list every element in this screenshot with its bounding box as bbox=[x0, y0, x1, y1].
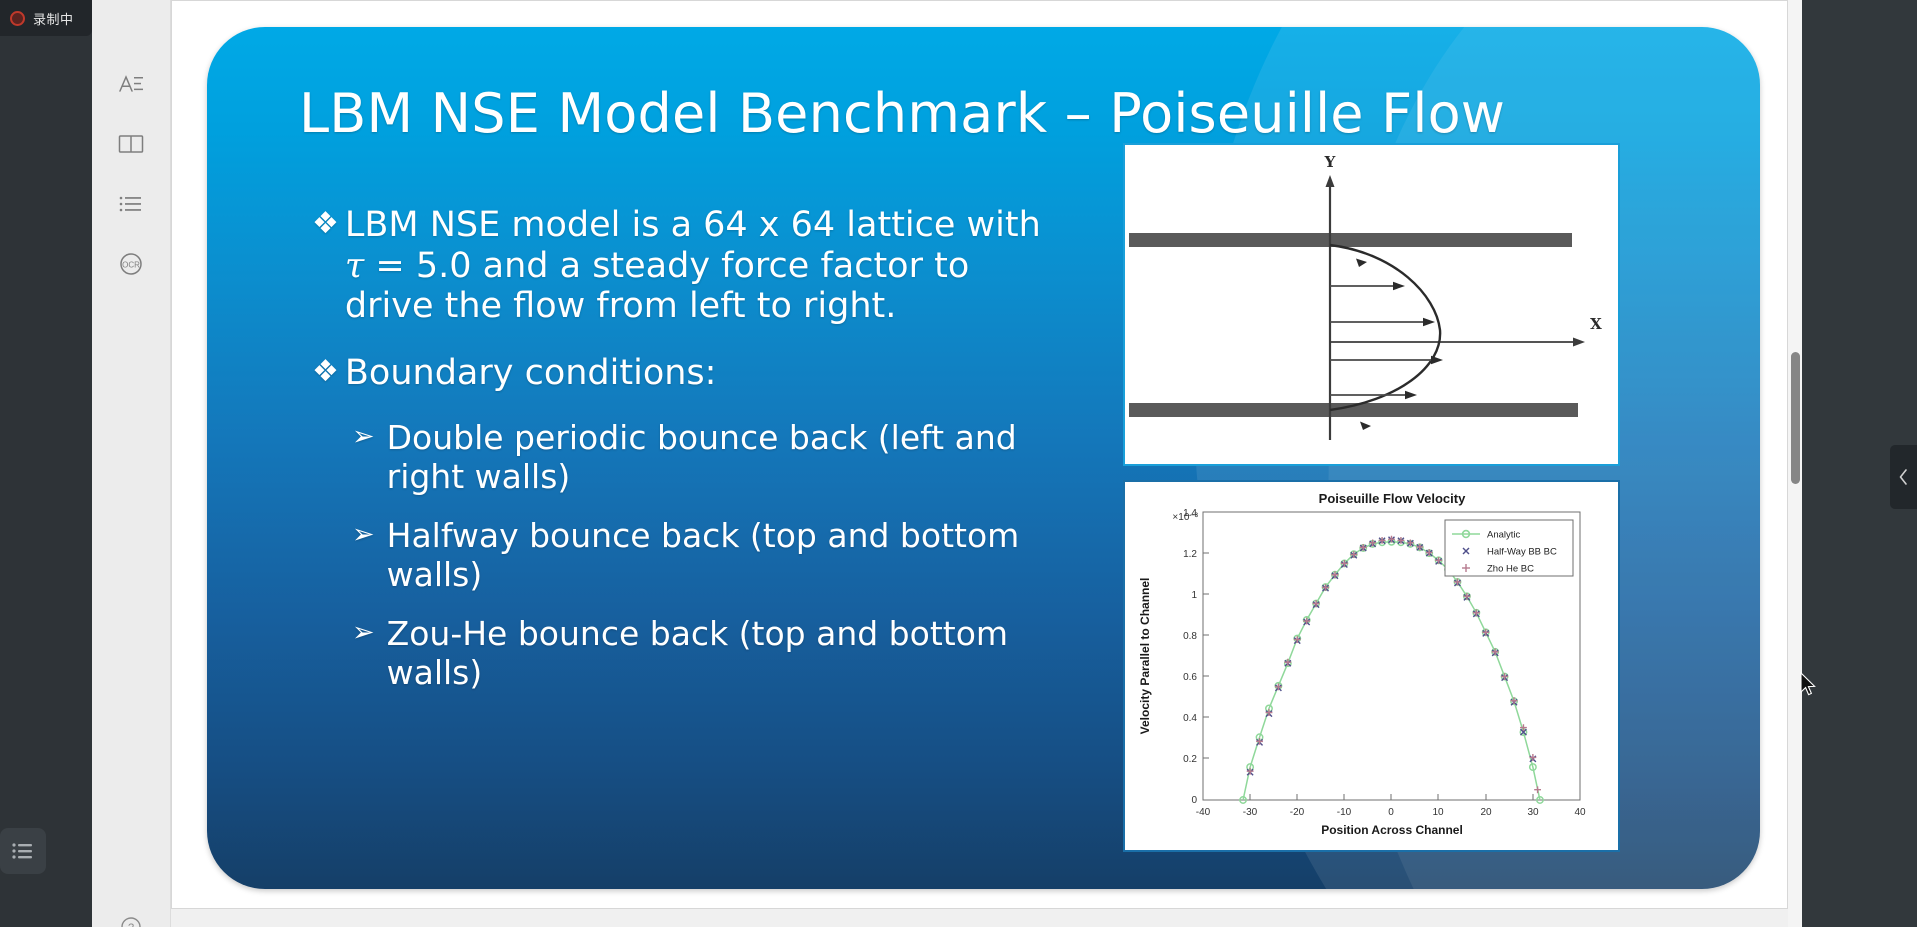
x-tick-label: -20 bbox=[1290, 807, 1305, 818]
vertical-scrollbar[interactable] bbox=[1788, 0, 1802, 927]
slide-canvas: LBM NSE Model Benchmark – Poiseuille Flo… bbox=[207, 27, 1760, 889]
slide-title: LBM NSE Model Benchmark – Poiseuille Flo… bbox=[299, 82, 1599, 145]
y-tick-label: 0.4 bbox=[1183, 713, 1197, 724]
x-tick-label: 30 bbox=[1527, 807, 1539, 818]
bullet-text: Halfway bounce back (top and bottom wall… bbox=[387, 517, 1042, 595]
legend-label: Zho He BC bbox=[1487, 564, 1534, 575]
outline-list-icon bbox=[118, 193, 144, 215]
y-tick-label: 0.2 bbox=[1183, 754, 1197, 765]
legend-label: Analytic bbox=[1487, 530, 1521, 541]
sidebar-item-text-format[interactable] bbox=[109, 62, 153, 106]
book-spread-icon bbox=[118, 133, 144, 155]
app-root: 录制中 bbox=[0, 0, 1917, 927]
text-format-icon bbox=[118, 73, 144, 95]
bullet-marker-arrow-icon: ➢ bbox=[352, 615, 375, 650]
slide-body: ❖ LBM NSE model is a 64 x 64 lattice wit… bbox=[312, 205, 1042, 713]
y-tick-label: 1.4 bbox=[1183, 508, 1197, 519]
poiseuille-channel-diagram: Y X bbox=[1123, 143, 1620, 466]
bullet-level1: ❖ Boundary conditions: bbox=[312, 353, 1042, 394]
sidebar-item-outline[interactable] bbox=[109, 182, 153, 226]
panel-collapse-button[interactable] bbox=[1890, 445, 1917, 509]
y-tick-label: 1 bbox=[1191, 590, 1197, 601]
y-tick-label: 1.2 bbox=[1183, 549, 1197, 560]
record-dot-icon bbox=[10, 11, 25, 26]
y-tick-label: 0.6 bbox=[1183, 672, 1197, 683]
sidebar-item-page-layout[interactable] bbox=[109, 122, 153, 166]
bullet-marker-diamond-icon: ❖ bbox=[312, 205, 339, 243]
bullet-text: LBM NSE model is a 64 x 64 lattice with … bbox=[345, 205, 1042, 327]
svg-text:?: ? bbox=[128, 922, 134, 927]
list-menu-icon bbox=[12, 842, 34, 860]
x-tick-label: 20 bbox=[1480, 807, 1492, 818]
bullet-text: Zou-He bounce back (top and bottom walls… bbox=[387, 615, 1042, 693]
bullet-level2: ➢ Double periodic bounce back (left and … bbox=[352, 419, 1042, 497]
slide-page: LBM NSE Model Benchmark – Poiseuille Flo… bbox=[171, 0, 1788, 909]
help-button[interactable]: ? bbox=[109, 905, 153, 927]
bullet-marker-diamond-icon: ❖ bbox=[312, 353, 339, 391]
ocr-icon: OCR bbox=[118, 251, 144, 277]
scrollbar-thumb[interactable] bbox=[1791, 352, 1800, 484]
bullet-level1: ❖ LBM NSE model is a 64 x 64 lattice wit… bbox=[312, 205, 1042, 327]
axis-label-x: X bbox=[1590, 315, 1602, 333]
y-tick-label: 0 bbox=[1191, 795, 1197, 806]
svg-text:OCR: OCR bbox=[122, 260, 140, 269]
tau-symbol: τ bbox=[345, 246, 364, 286]
chart-title: Poiseuille Flow Velocity bbox=[1319, 491, 1466, 506]
channel-diagram-svg: Y X bbox=[1125, 145, 1618, 464]
help-circle-icon: ? bbox=[120, 916, 142, 927]
x-tick-label: 0 bbox=[1388, 807, 1394, 818]
axis-label-y: Y bbox=[1324, 153, 1336, 171]
tool-sidebar: OCR ? bbox=[92, 0, 171, 927]
bullet-text-part2: = 5.0 and a steady force factor to drive… bbox=[345, 246, 969, 327]
recording-label: 录制中 bbox=[33, 9, 74, 28]
x-tick-label: -10 bbox=[1337, 807, 1352, 818]
bullet-level2: ➢ Zou-He bounce back (top and bottom wal… bbox=[352, 615, 1042, 693]
x-tick-label: -40 bbox=[1196, 807, 1211, 818]
poiseuille-velocity-chart: Poiseuille Flow Velocity ×10⁻³ 1.4 1.2 1… bbox=[1123, 480, 1620, 852]
chart-ylabel: Velocity Parallel to Channel bbox=[1138, 578, 1152, 735]
recording-status: 录制中 bbox=[0, 0, 92, 36]
y-tick-label: 0.8 bbox=[1183, 631, 1197, 642]
sidebar-item-ocr[interactable]: OCR bbox=[109, 242, 153, 286]
legend-label: Half-Way BB BC bbox=[1487, 547, 1557, 558]
bullet-level2: ➢ Halfway bounce back (top and bottom wa… bbox=[352, 517, 1042, 595]
x-tick-label: 10 bbox=[1432, 807, 1444, 818]
rail-menu-button[interactable] bbox=[0, 828, 46, 874]
bullet-text: Boundary conditions: bbox=[345, 353, 717, 394]
x-tick-label: 40 bbox=[1574, 807, 1586, 818]
bullet-marker-arrow-icon: ➢ bbox=[352, 419, 375, 454]
bullet-text-part1: LBM NSE model is a 64 x 64 lattice with bbox=[345, 205, 1041, 245]
velocity-chart-svg: Poiseuille Flow Velocity ×10⁻³ 1.4 1.2 1… bbox=[1125, 482, 1618, 850]
bullet-marker-arrow-icon: ➢ bbox=[352, 517, 375, 552]
document-viewport[interactable]: LBM NSE Model Benchmark – Poiseuille Flo… bbox=[171, 0, 1788, 927]
x-tick-label: -30 bbox=[1243, 807, 1258, 818]
left-rail: 录制中 bbox=[0, 0, 92, 927]
chart-xlabel: Position Across Channel bbox=[1321, 823, 1463, 837]
chart-legend: Analytic Half-Way BB BC Zho He BC bbox=[1445, 520, 1573, 576]
chevron-left-icon bbox=[1898, 468, 1909, 486]
bullet-text: Double periodic bounce back (left and ri… bbox=[387, 419, 1042, 497]
